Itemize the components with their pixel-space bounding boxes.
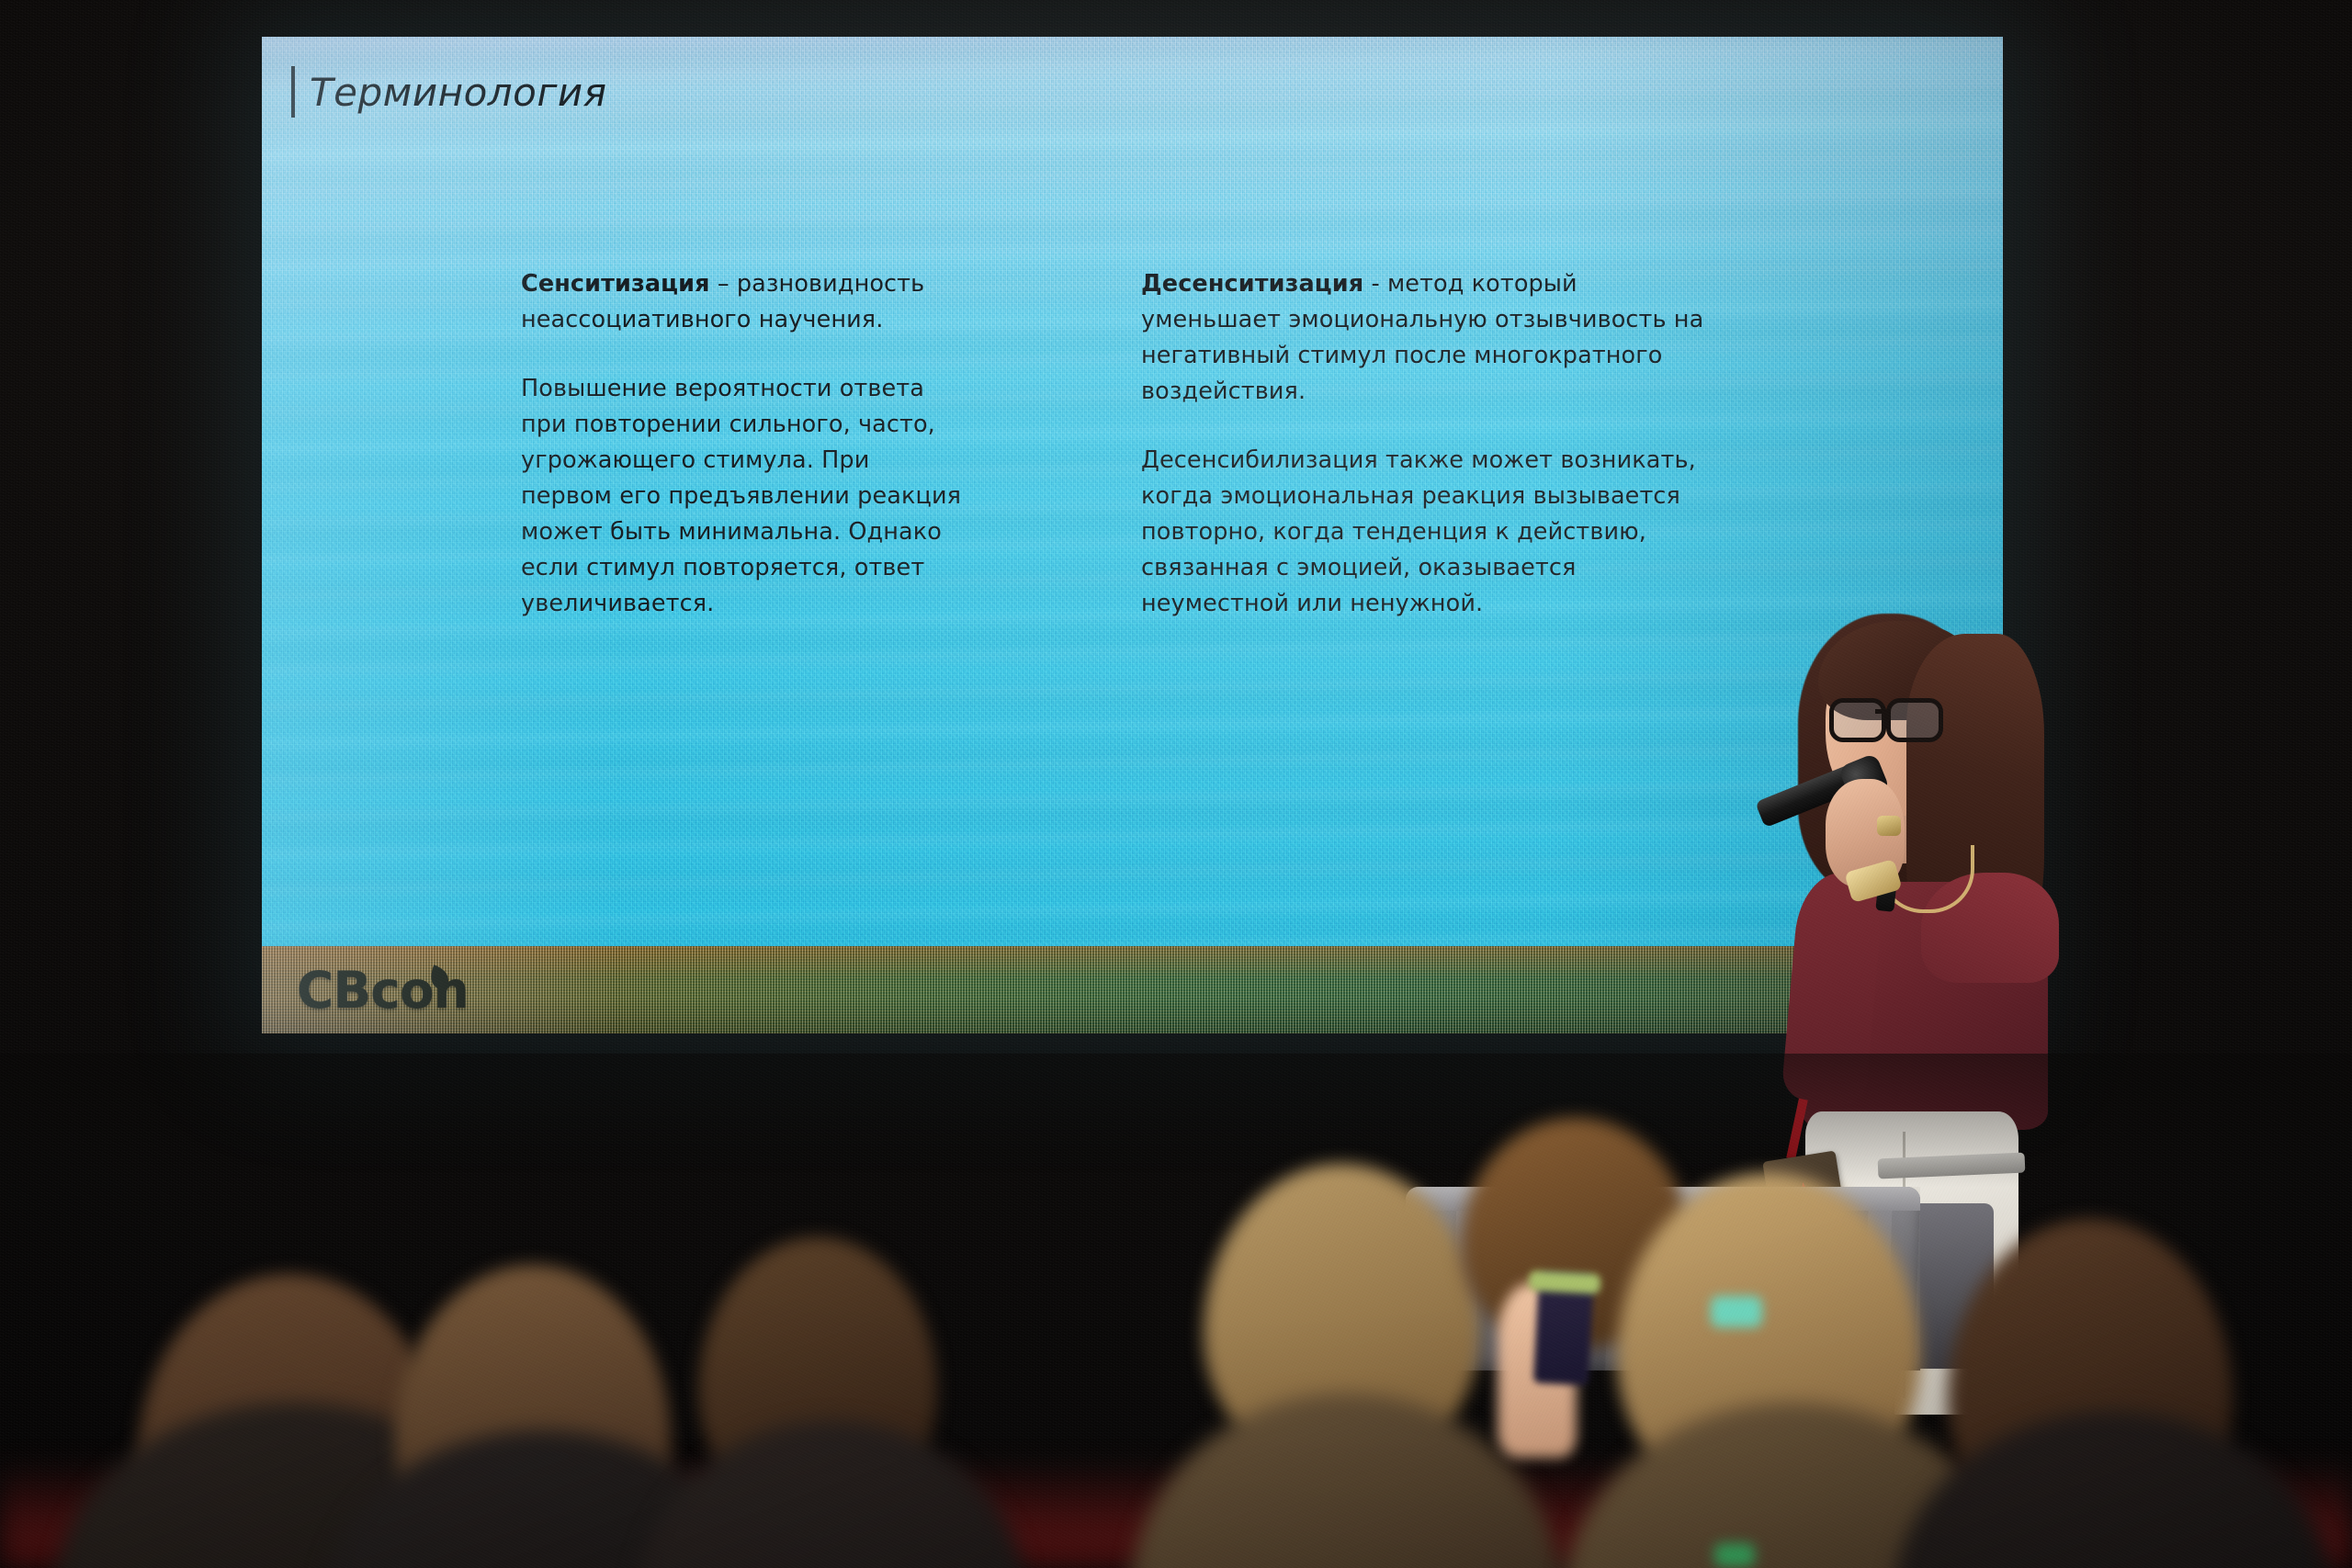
green-accent-blur bbox=[1714, 1543, 1755, 1567]
ring bbox=[1877, 816, 1901, 836]
lens-right bbox=[1886, 698, 1943, 742]
audience-foreground bbox=[0, 1054, 2352, 1568]
phone-case-edge bbox=[1528, 1270, 1600, 1294]
glasses-bridge bbox=[1875, 709, 1890, 714]
eyeglasses-icon bbox=[1829, 698, 1945, 735]
lens-left bbox=[1829, 698, 1886, 742]
photo-stage: Терминология Сенситизация – разновидност… bbox=[0, 0, 2352, 1568]
hair-clip-teal bbox=[1711, 1296, 1762, 1327]
